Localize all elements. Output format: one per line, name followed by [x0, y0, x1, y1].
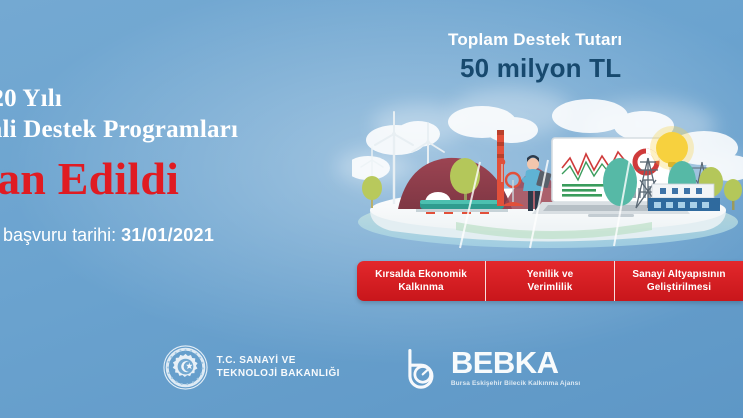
- support-amount: 50 milyon TL: [460, 53, 622, 84]
- bebka-name: BEBKA: [451, 347, 581, 378]
- pill-line-1: Yenilik ve: [527, 269, 574, 280]
- program-line: Mali Destek Programları: [0, 115, 366, 145]
- ministry-text-line-1: T.C. SANAYİ VE: [217, 355, 296, 366]
- program-pill-strip: Kırsalda Ekonomik Kalkınma Yenilik ve Ve…: [357, 261, 743, 301]
- bebka-logo: BEBKA Bursa Eskişehir Bilecik Kalkınma A…: [398, 345, 581, 389]
- program-pill-industrial-infrastructure[interactable]: Sanayi Altyapısının Geliştirilmesi: [615, 261, 743, 301]
- pill-line-1: Kırsalda Ekonomik: [375, 269, 467, 280]
- pill-line-2: Geliştirilmesi: [647, 282, 711, 293]
- logo-bar: T.C. SANAYİ VE TEKNOLOJİ BAKANLIĞI BEBKA…: [0, 333, 743, 401]
- announced-line: İlan Edildi: [0, 155, 366, 203]
- industrial-building: [648, 184, 720, 211]
- turkish-ministry-emblem-icon: [163, 345, 208, 390]
- pill-line-1: Sanayi Altyapısının: [632, 269, 725, 280]
- bebka-subtitle: Bursa Eskişehir Bilecik Kalkınma Ajansı: [451, 380, 581, 387]
- program-pill-rural-development[interactable]: Kırsalda Ekonomik Kalkınma: [357, 261, 486, 301]
- bebka-wordmark: BEBKA Bursa Eskişehir Bilecik Kalkınma A…: [451, 347, 581, 387]
- deadline-row: Son başvuru tarihi: 31/01/2021: [0, 225, 366, 246]
- tree: [724, 179, 742, 210]
- headline-block: 2020 Yılı Mali Destek Programları İlan E…: [0, 84, 366, 246]
- pill-line-2: Verimlilik: [528, 282, 573, 293]
- ministry-logo: T.C. SANAYİ VE TEKNOLOJİ BAKANLIĞI: [163, 345, 340, 390]
- deadline-date: 31/01/2021: [121, 225, 214, 245]
- support-total-block: Toplam Destek Tutarı 50 milyon TL: [448, 30, 622, 84]
- support-caption: Toplam Destek Tutarı: [448, 30, 622, 50]
- ministry-text-line-2: TEKNOLOJİ BAKANLIĞI: [217, 368, 340, 379]
- year-line: 2020 Yılı: [0, 84, 366, 113]
- program-pill-innovation-efficiency[interactable]: Yenilik ve Verimlilik: [486, 261, 615, 301]
- bebka-spiral-icon: [398, 345, 442, 389]
- ministry-logo-text: T.C. SANAYİ VE TEKNOLOJİ BAKANLIĞI: [217, 354, 340, 381]
- island-illustration: [352, 96, 743, 264]
- promotional-banner: 2020 Yılı Mali Destek Programları İlan E…: [0, 0, 743, 418]
- deadline-label: Son başvuru tarihi:: [0, 225, 121, 245]
- factory-chimney: [497, 130, 504, 206]
- pill-line-2: Kalkınma: [398, 282, 443, 293]
